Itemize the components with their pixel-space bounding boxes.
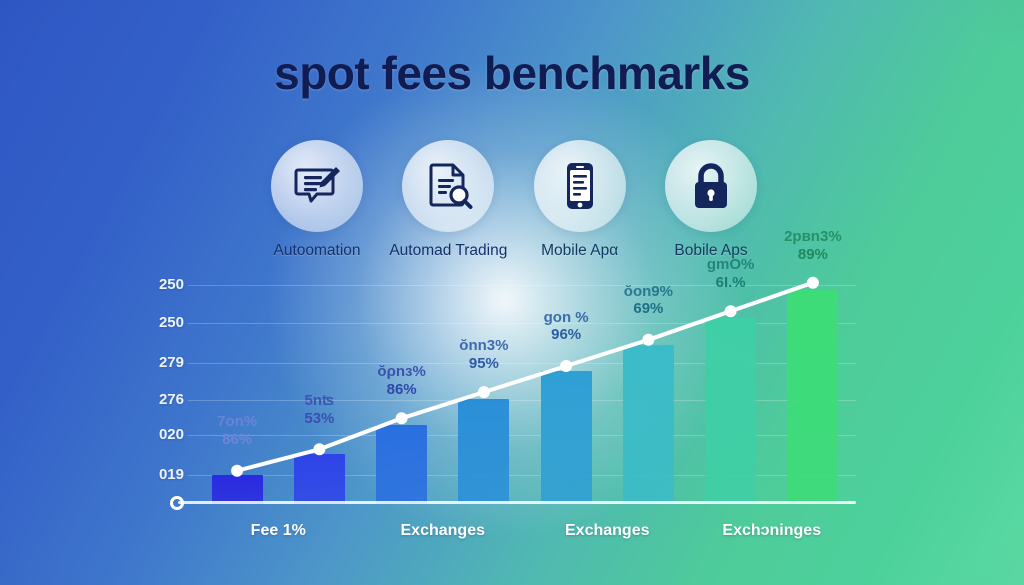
- x-axis-labels: Fee 1%ExchangesExchangesExchɔninges: [196, 522, 854, 548]
- trend-line-marker[interactable]: [313, 443, 325, 455]
- feature-label: Automad Trading: [389, 242, 507, 260]
- feature-item-mobile-app[interactable]: Mobile Apα: [521, 140, 639, 260]
- y-axis-tick-label: 276: [148, 391, 184, 408]
- trend-line-marker[interactable]: [478, 386, 490, 398]
- icon-disc: [665, 140, 757, 232]
- feature-label: Autoomation: [273, 242, 360, 260]
- axis-origin-marker: [170, 496, 184, 510]
- icon-disc: [402, 140, 494, 232]
- bar-value-label: 2pвn3%89%: [784, 228, 842, 263]
- x-axis-tick-label: Exchanges: [361, 522, 526, 548]
- mobile-phone-icon: [555, 161, 605, 211]
- icon-disc: [534, 140, 626, 232]
- trend-line-marker[interactable]: [642, 334, 654, 346]
- x-axis-tick-label: Exchɔninges: [690, 522, 855, 548]
- trend-line-marker[interactable]: [231, 465, 243, 477]
- document-search-icon: [423, 161, 473, 211]
- trend-line-marker[interactable]: [560, 360, 572, 372]
- feature-item-automation[interactable]: Autoomation: [258, 140, 376, 260]
- trend-line-marker[interactable]: [725, 305, 737, 317]
- bar-chart: 250250279276020019 7on%86%5nʦ53%ŏρnɜ%86%…: [148, 266, 860, 526]
- page-title: spot fees benchmarks: [0, 46, 1024, 100]
- trend-line-marker[interactable]: [396, 412, 408, 424]
- y-axis-tick-label: 279: [148, 354, 184, 371]
- y-axis-tick-label: 250: [148, 314, 184, 331]
- icon-disc: [271, 140, 363, 232]
- x-axis-tick-label: Exchanges: [525, 522, 690, 548]
- y-axis-tick-label: 020: [148, 426, 184, 443]
- x-axis-tick-label: Fee 1%: [196, 522, 361, 548]
- x-axis-line: [178, 501, 856, 504]
- padlock-icon: [686, 161, 736, 211]
- feature-icon-row: Autoomation Automad Trading: [258, 140, 770, 260]
- feature-label: Mobile Apα: [541, 242, 618, 260]
- trend-line-marker[interactable]: [807, 277, 819, 289]
- feature-label: Bobile Aps: [674, 242, 747, 260]
- document-edit-icon: [292, 161, 342, 211]
- trend-line: [196, 266, 854, 504]
- y-axis-tick-label: 019: [148, 466, 184, 483]
- feature-item-automated-trading[interactable]: Automad Trading: [389, 140, 507, 260]
- y-axis-tick-label: 250: [148, 276, 184, 293]
- feature-item-security[interactable]: Bobile Aps: [652, 140, 770, 260]
- infographic-canvas: spot fees benchmarks Autoomation: [0, 0, 1024, 585]
- chart-plot-area: 7on%86%5nʦ53%ŏρnɜ%86%ŏnn3%95%gon %96%ŏon…: [196, 266, 854, 504]
